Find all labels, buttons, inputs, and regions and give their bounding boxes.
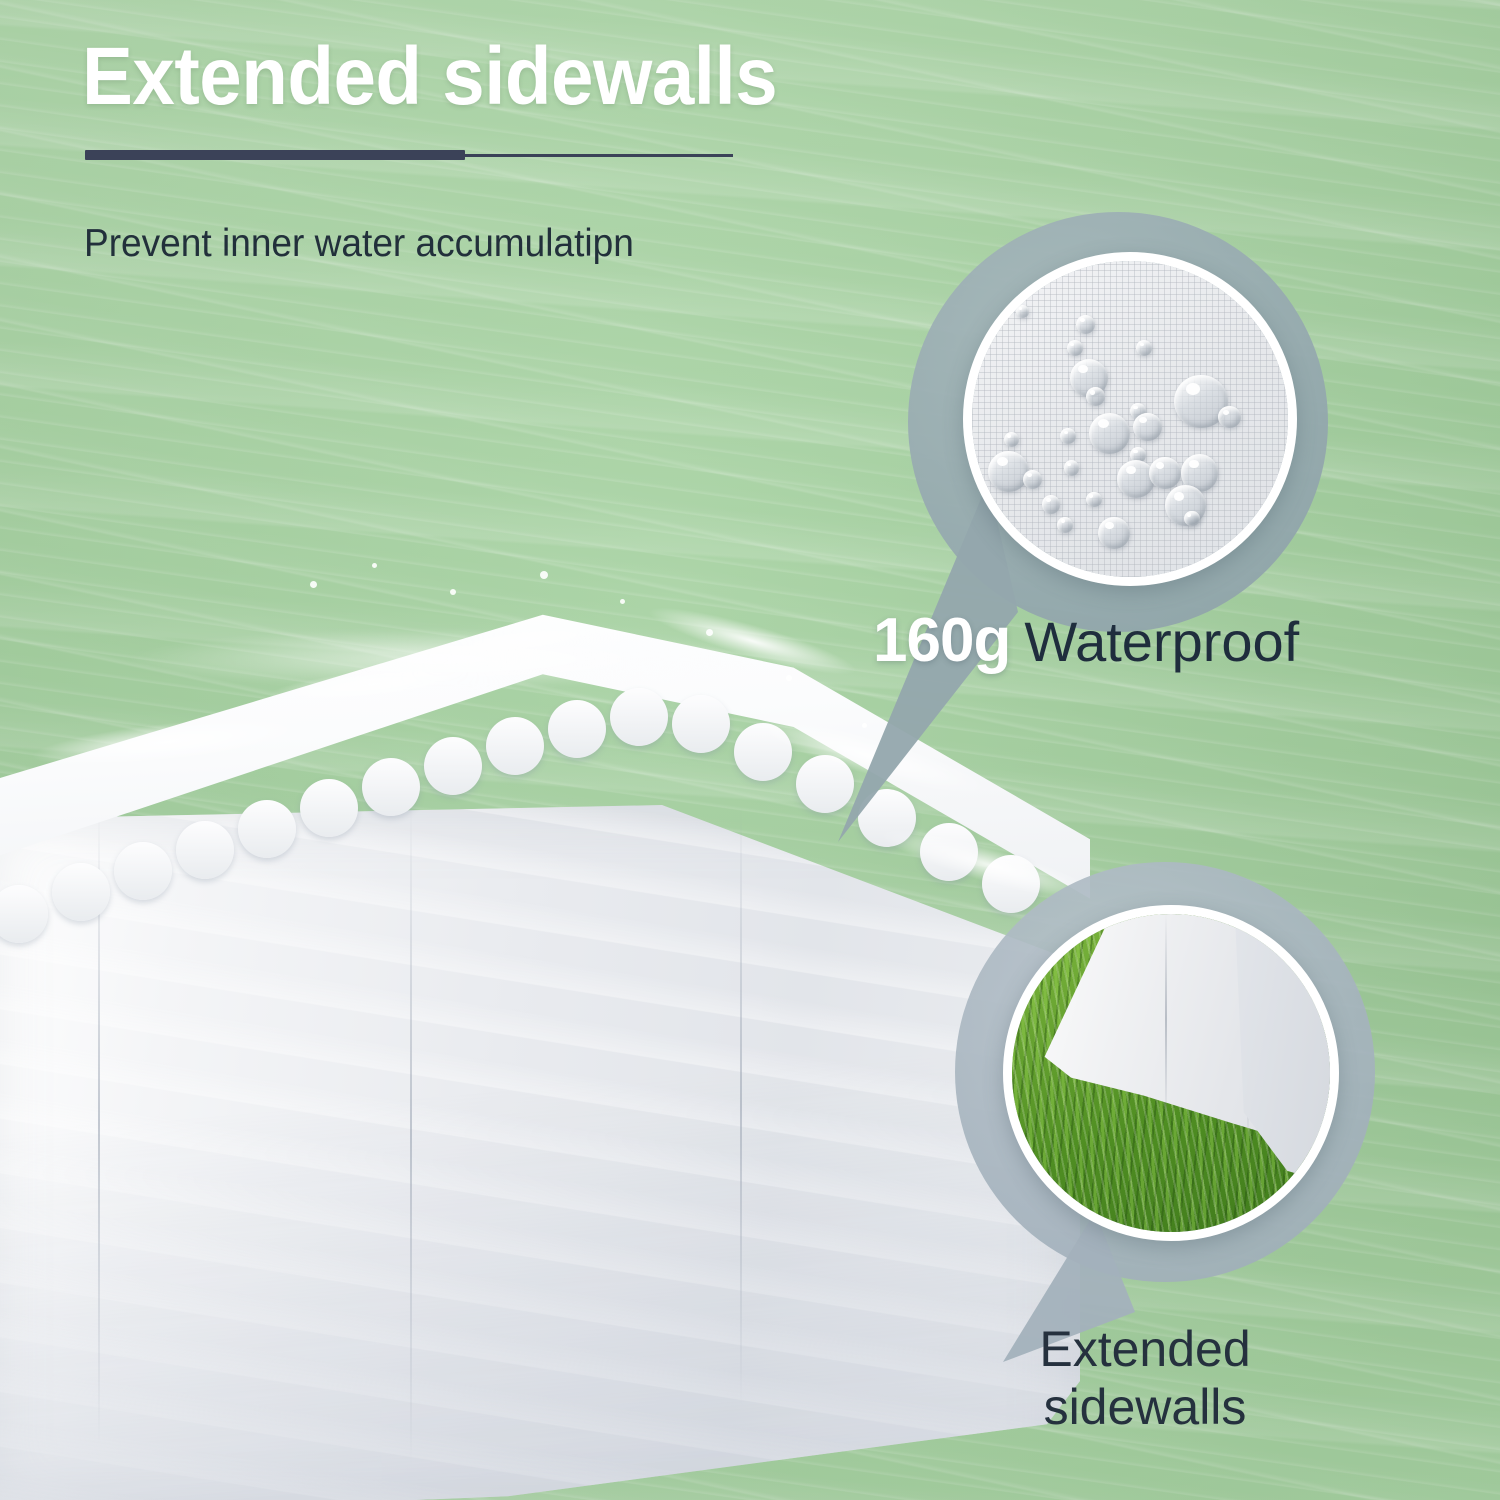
water-droplet [1149, 457, 1181, 489]
splash-droplet [372, 563, 377, 568]
splash-droplet [450, 589, 456, 595]
water-droplet [1086, 492, 1102, 508]
waterproof-label-text: Waterproof [1024, 610, 1299, 673]
title-underline-thin [463, 154, 733, 157]
valance-scallop [300, 779, 358, 837]
water-droplet [1042, 495, 1061, 514]
sidewall-seam-2 [410, 805, 412, 1465]
valance-scallop [52, 863, 110, 921]
valance-scallop [424, 737, 482, 795]
sidewall-fold-line [1165, 914, 1167, 1124]
water-droplet [1136, 340, 1152, 356]
page-title: Extended sidewalls [82, 36, 777, 118]
page-subtitle: Prevent inner water accumulatipn [84, 222, 634, 266]
extended-sidewalls-label-line1: Extended [960, 1320, 1330, 1378]
waterproof-label: 160gWaterproof [873, 610, 1299, 672]
waterproof-photo [963, 252, 1297, 586]
splash-droplet [706, 629, 713, 636]
water-droplet [1098, 517, 1130, 549]
valance-scallop [362, 758, 420, 816]
valance-scallop [486, 717, 544, 775]
water-droplet [1064, 460, 1080, 476]
water-droplet [1089, 413, 1130, 454]
valance-scallop [672, 695, 730, 753]
extended-sidewalls-photo [1003, 905, 1339, 1241]
water-droplet [1057, 517, 1073, 533]
title-underline-thick [85, 150, 465, 160]
water-droplet [1218, 406, 1240, 428]
valance-scallop [114, 842, 172, 900]
valance-scallop [238, 800, 296, 858]
water-droplet [1076, 315, 1095, 334]
valance-scallop [548, 700, 606, 758]
infographic-canvas: Extended sidewalls Prevent inner water a… [0, 0, 1500, 1500]
water-droplet [1184, 511, 1200, 527]
splash-droplet [310, 581, 317, 588]
extended-sidewalls-label-line2: sidewalls [960, 1378, 1330, 1436]
sidewall-seam-3 [740, 805, 742, 1405]
valance-scallop [176, 821, 234, 879]
water-droplet [1016, 305, 1029, 318]
water-droplet [988, 451, 1029, 492]
water-droplet [1086, 387, 1105, 406]
extended-sidewalls-label: Extended sidewalls [960, 1320, 1330, 1436]
title-underline [85, 150, 735, 160]
valance-scallop [610, 688, 668, 746]
water-droplet [1067, 340, 1083, 356]
splash-droplet [620, 599, 625, 604]
waterproof-weight-value: 160g [873, 606, 1010, 675]
splash-droplet [540, 571, 548, 579]
water-droplet [1133, 413, 1161, 441]
water-droplet [1023, 470, 1042, 489]
